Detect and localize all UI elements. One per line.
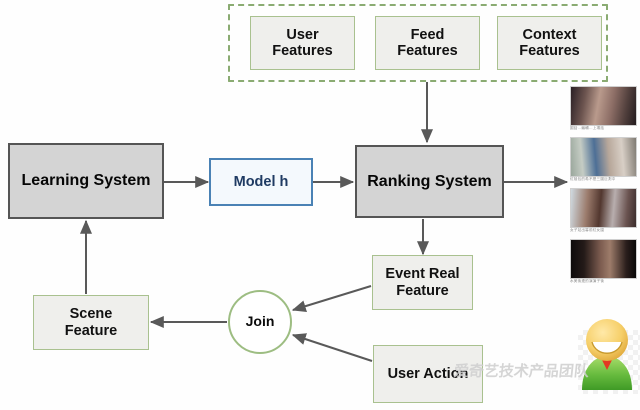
node-label: Event Real Feature: [385, 266, 459, 298]
node-label: Context Features: [519, 27, 579, 59]
node-label: User Features: [272, 27, 332, 59]
node-label: Model h: [234, 174, 289, 190]
thumbnail-image[interactable]: [570, 239, 637, 279]
node-scene-feature[interactable]: Scene Feature: [33, 295, 149, 350]
thumbnail-image[interactable]: [570, 137, 637, 177]
thumbnail-caption: 女子站出暮前紅女園: [570, 228, 638, 236]
node-event-real-feature[interactable]: Event Real Feature: [372, 255, 473, 310]
watermark-text: 爱奇艺技术产品团队: [453, 360, 590, 381]
node-label: Learning System: [22, 172, 151, 190]
list-item[interactable]: 圖話…編輯…上場話: [570, 86, 638, 134]
node-learning-system[interactable]: Learning System: [8, 143, 164, 219]
edge-event-to-join: [293, 286, 371, 310]
node-user-features[interactable]: User Features: [250, 16, 355, 70]
thumbnail-caption: 紅毯包的希不是三圖巨測中: [570, 177, 638, 185]
node-label: Scene Feature: [65, 306, 117, 338]
node-ranking-system[interactable]: Ranking System: [355, 145, 504, 218]
node-context-features[interactable]: Context Features: [497, 16, 602, 70]
thumbnail-caption: 水美後連的演演子後: [570, 279, 638, 287]
node-label: Feed Features: [397, 27, 457, 59]
list-item[interactable]: 水美後連的演演子後: [570, 239, 638, 287]
thumbnail-image[interactable]: [570, 86, 637, 126]
node-feed-features[interactable]: Feed Features: [375, 16, 480, 70]
node-join[interactable]: Join: [228, 290, 292, 354]
list-item[interactable]: 女子站出暮前紅女園: [570, 188, 638, 236]
thumbnail-image[interactable]: [570, 188, 637, 228]
edge-useraction-to-join: [293, 335, 372, 361]
diagram-canvas: User Features Feed Features Context Feat…: [0, 0, 640, 410]
node-label: Join: [246, 314, 275, 330]
watermark: 爱奇艺技术产品团队: [452, 360, 589, 381]
node-label: Ranking System: [367, 173, 491, 191]
list-item[interactable]: 紅毯包的希不是三圖巨測中: [570, 137, 638, 185]
thumbnail-caption: 圖話…編輯…上場話: [570, 126, 638, 134]
results-list[interactable]: 圖話…編輯…上場話 紅毯包的希不是三圖巨測中 女子站出暮前紅女園 水美後連的演演…: [570, 86, 638, 290]
node-model-h[interactable]: Model h: [209, 158, 313, 206]
